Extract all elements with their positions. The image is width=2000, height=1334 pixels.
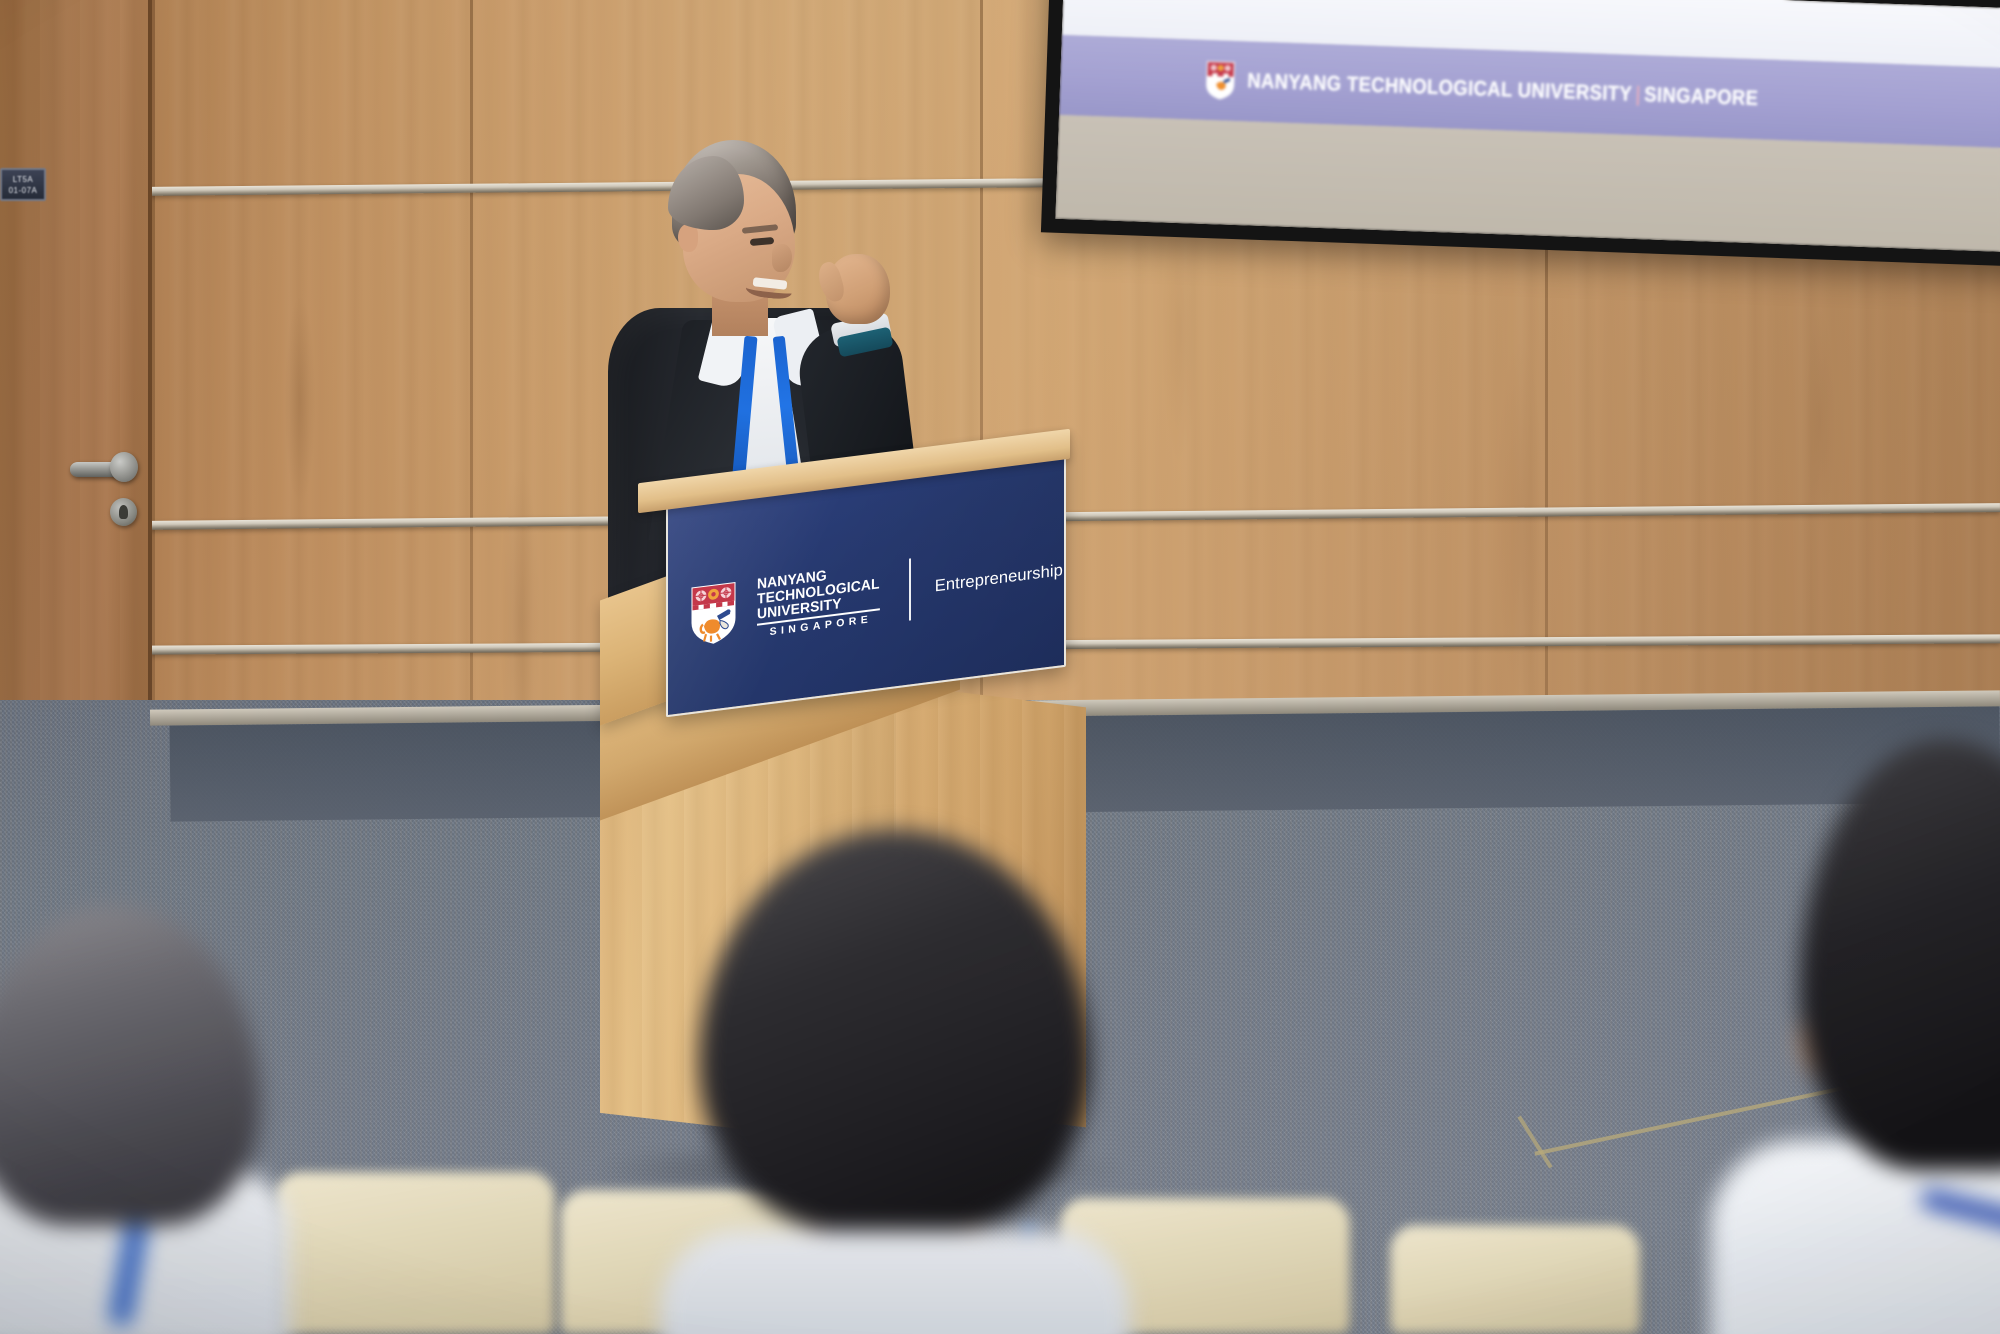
room-sign-line1: LT5A: [13, 174, 34, 185]
audience-member-center: [700, 830, 1090, 1334]
brand-divider-rule: [909, 558, 911, 620]
chair-4: [1390, 1225, 1640, 1334]
door-lock-icon[interactable]: [110, 498, 137, 526]
room-sign: LT5A 01-07A: [0, 168, 46, 201]
audience-member-left: [0, 905, 260, 1334]
chair-1: [275, 1172, 555, 1334]
lecture-room-door[interactable]: [0, 0, 152, 742]
speaker-hair-front: [668, 156, 744, 230]
ntu-crest-icon: [690, 580, 737, 648]
screen-focus-blur: [1055, 0, 2000, 253]
projection-screen: NANYANG TECHNOLOGICAL UNIVERSITY|SINGAPO…: [1041, 0, 2000, 268]
lecture-hall-photo: LT5A 01-07A NANYANG TECHNOLOGICAL: [0, 0, 2000, 1334]
audience-member-right: [1770, 740, 2000, 1334]
door-handle-rose: [110, 452, 138, 482]
door-wood-grain: [0, 0, 148, 742]
projection-screen-surface: NANYANG TECHNOLOGICAL UNIVERSITY|SINGAPO…: [1055, 0, 2000, 253]
sub-brand-label: Entrepreneurship Academy: [935, 551, 1066, 595]
room-sign-line2: 01-07A: [9, 185, 38, 196]
